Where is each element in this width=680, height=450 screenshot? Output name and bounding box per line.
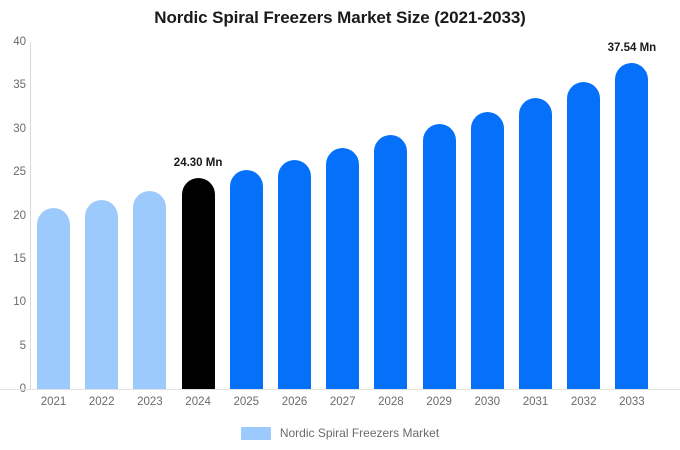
x-axis-tick-label-2023: 2023 <box>124 396 176 408</box>
bar-value-label-2024: 24.30 Mn <box>174 157 223 169</box>
bar-slot <box>85 200 118 389</box>
bar-slot: 24.30 Mn <box>182 178 215 389</box>
y-axis-tick-label: 35 <box>2 79 26 91</box>
y-axis-tick-label: 15 <box>2 253 26 265</box>
bar-2023[interactable] <box>133 191 166 389</box>
x-axis-line <box>0 389 680 390</box>
y-axis-ticks: 0510152025303540 <box>0 0 26 450</box>
bar-chart: Nordic Spiral Freezers Market Size (2021… <box>0 0 680 450</box>
bar-slot <box>374 135 407 389</box>
bar-2029[interactable] <box>423 124 456 389</box>
bar-slot <box>326 148 359 389</box>
x-axis-tick-label-2026: 2026 <box>269 396 321 408</box>
x-axis-tick-label-2032: 2032 <box>558 396 610 408</box>
x-axis-tick-label-2027: 2027 <box>317 396 369 408</box>
x-axis-tick-label-2021: 2021 <box>28 396 80 408</box>
x-axis-tick-label-2030: 2030 <box>461 396 513 408</box>
bar-slot: 37.54 Mn <box>615 63 648 389</box>
bar-slot <box>230 170 263 389</box>
bar-2025[interactable] <box>230 170 263 389</box>
legend-label-nordic-spiral-freezers-market: Nordic Spiral Freezers Market <box>280 426 439 440</box>
y-axis-tick-label: 40 <box>2 36 26 48</box>
legend-swatch-nordic-spiral-freezers-market <box>241 427 271 440</box>
bar-slot <box>423 124 456 389</box>
bar-2027[interactable] <box>326 148 359 389</box>
y-axis-tick-label: 20 <box>2 210 26 222</box>
bar-slot <box>471 112 504 389</box>
bar-slot <box>567 82 600 389</box>
x-axis-tick-label-2033: 2033 <box>606 396 658 408</box>
bar-slot <box>37 208 70 389</box>
bar-2032[interactable] <box>567 82 600 389</box>
bar-2021[interactable] <box>37 208 70 389</box>
bar-2028[interactable] <box>374 135 407 389</box>
y-axis-tick-label: 5 <box>2 340 26 352</box>
x-axis-tick-label-2031: 2031 <box>510 396 562 408</box>
y-axis-line <box>30 42 31 389</box>
chart-legend: Nordic Spiral Freezers Market <box>0 426 680 440</box>
bar-2033[interactable] <box>615 63 648 389</box>
bar-slot <box>133 191 166 389</box>
bar-value-label-2033: 37.54 Mn <box>608 42 657 54</box>
x-axis-tick-label-2028: 2028 <box>365 396 417 408</box>
bar-2031[interactable] <box>519 98 552 389</box>
bar-2022[interactable] <box>85 200 118 389</box>
chart-title: Nordic Spiral Freezers Market Size (2021… <box>0 8 680 28</box>
x-axis-tick-label-2029: 2029 <box>413 396 465 408</box>
bar-2026[interactable] <box>278 160 311 389</box>
y-axis-tick-label: 25 <box>2 166 26 178</box>
bar-slot <box>278 160 311 389</box>
x-axis-tick-label-2025: 2025 <box>220 396 272 408</box>
y-axis-tick-label: 10 <box>2 296 26 308</box>
y-axis-tick-label: 30 <box>2 123 26 135</box>
bar-2024[interactable] <box>182 178 215 389</box>
x-axis-tick-label-2022: 2022 <box>76 396 128 408</box>
bar-2030[interactable] <box>471 112 504 389</box>
bar-slot <box>519 98 552 389</box>
x-axis-tick-label-2024: 2024 <box>172 396 224 408</box>
